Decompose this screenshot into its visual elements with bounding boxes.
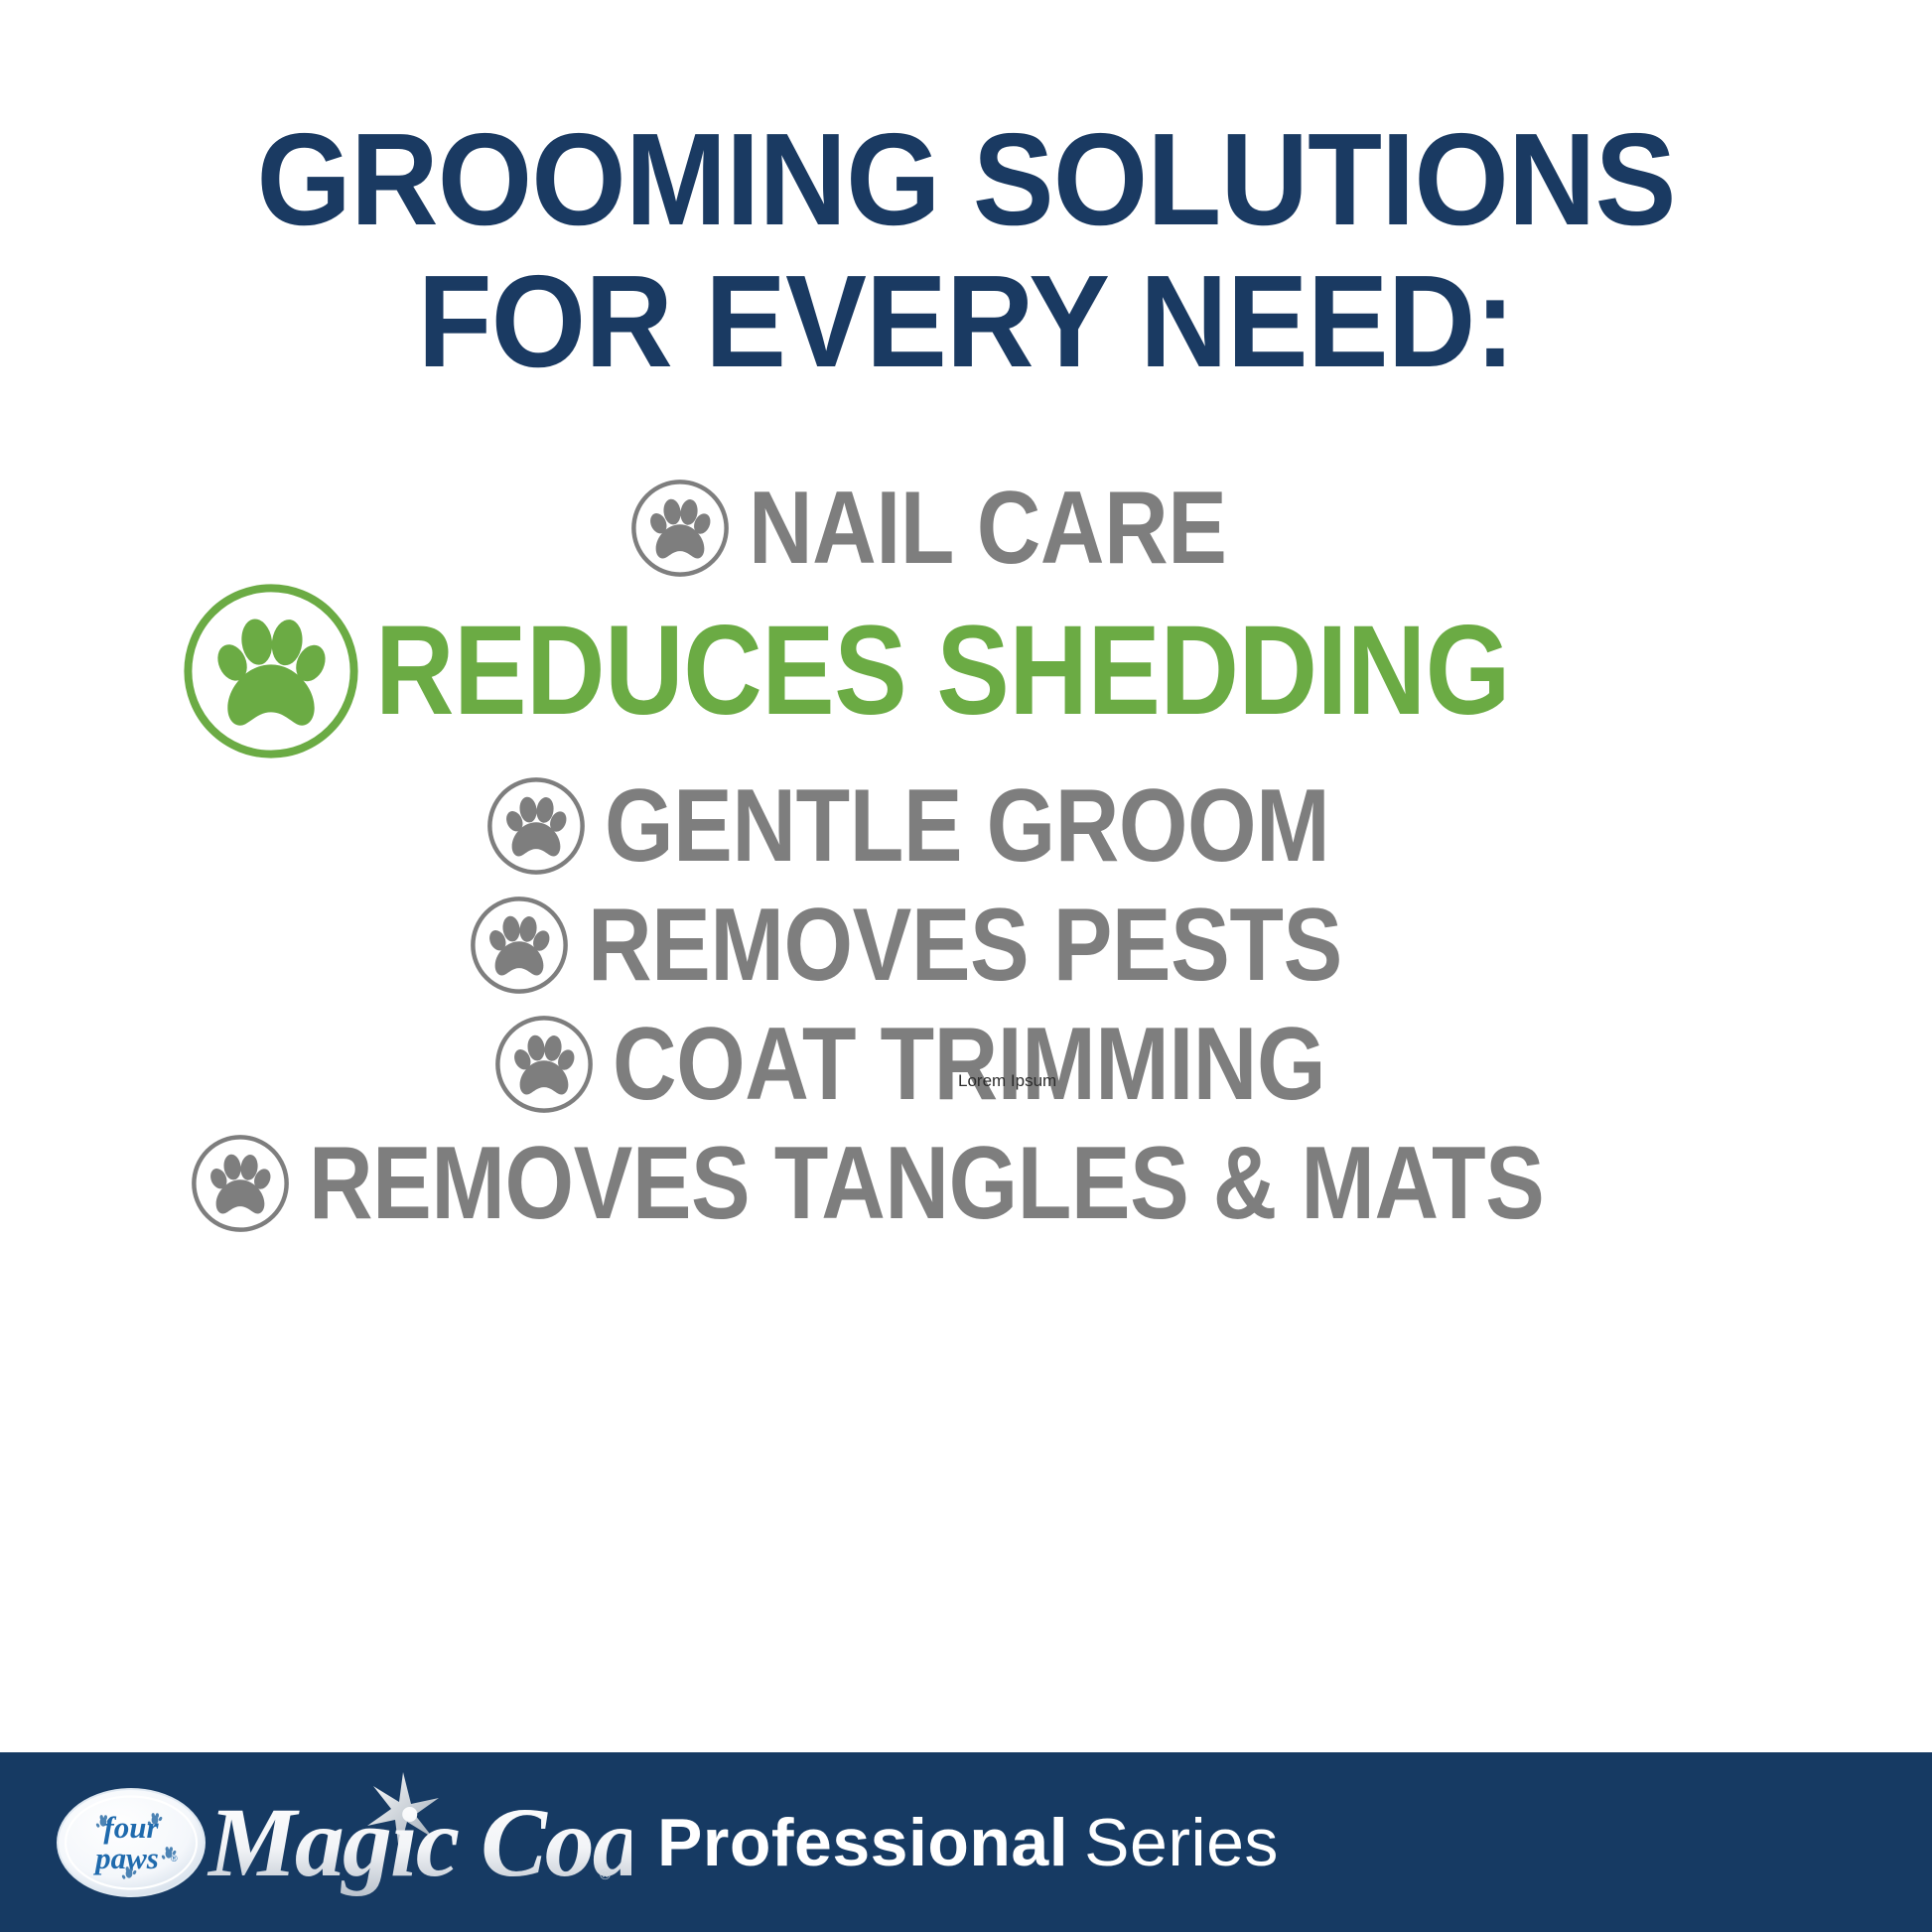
benefit-label: REMOVES TANGLES & MATS <box>309 1132 1544 1235</box>
benefits-list: NAIL CARE REDUCES SHEDDING <box>0 476 1932 1236</box>
page-title-line-1: GROOMING SOLUTIONS <box>68 117 1864 241</box>
page-title: GROOMING SOLUTIONS FOR EVERY NEED: <box>68 117 1864 384</box>
paw-print-icon <box>188 1131 293 1236</box>
benefit-row-removes-pests: REMOVES PESTS <box>0 893 1932 998</box>
poster-canvas: GROOMING SOLUTIONS FOR EVERY NEED: NAIL … <box>0 0 1932 1932</box>
benefit-label: REMOVES PESTS <box>588 894 1342 997</box>
footer-brand-bar: four paws ® <box>0 1752 1932 1932</box>
magic-coat-text: Magic Coat <box>207 1787 631 1897</box>
four-paws-oval-badge-icon: four paws ® <box>52 1782 210 1903</box>
professional-series-tagline: ProfessionalSeries <box>657 1809 1279 1876</box>
tagline-bold: Professional <box>657 1805 1068 1880</box>
four-paws-trademark: ® <box>171 1854 178 1863</box>
benefit-label: COAT TRIMMING <box>613 1013 1325 1116</box>
four-paws-line-2: paws <box>92 1841 159 1875</box>
paw-print-icon <box>627 476 733 581</box>
magic-coat-wordmark: Magic Coat ® <box>205 1768 631 1917</box>
paw-print-icon <box>491 1012 597 1117</box>
benefit-label: NAIL CARE <box>749 477 1226 580</box>
footer-logo-group: four paws ® <box>52 1768 1279 1917</box>
four-paws-line-1: four <box>103 1810 159 1845</box>
benefit-label: GENTLE GROOM <box>605 774 1329 878</box>
paw-print-icon <box>483 773 589 879</box>
benefit-row-removes-tangles-and-mats: REMOVES TANGLES & MATS <box>0 1131 1932 1236</box>
magic-coat-registered: ® <box>600 1866 611 1883</box>
paw-print-icon <box>467 893 572 998</box>
paw-print-icon <box>177 577 365 765</box>
benefit-row-nail-care: NAIL CARE <box>0 476 1932 581</box>
page-title-line-2: FOR EVERY NEED: <box>68 259 1864 383</box>
benefit-label: REDUCES SHEDDING <box>375 608 1510 735</box>
benefit-row-gentle-groom: GENTLE GROOM <box>0 773 1932 879</box>
tagline-light: Series <box>1084 1805 1279 1880</box>
benefit-row-reduces-shedding: REDUCES SHEDDING <box>0 577 1932 765</box>
benefit-row-coat-trimming: COAT TRIMMING Lorem Ipsum <box>0 1012 1932 1117</box>
